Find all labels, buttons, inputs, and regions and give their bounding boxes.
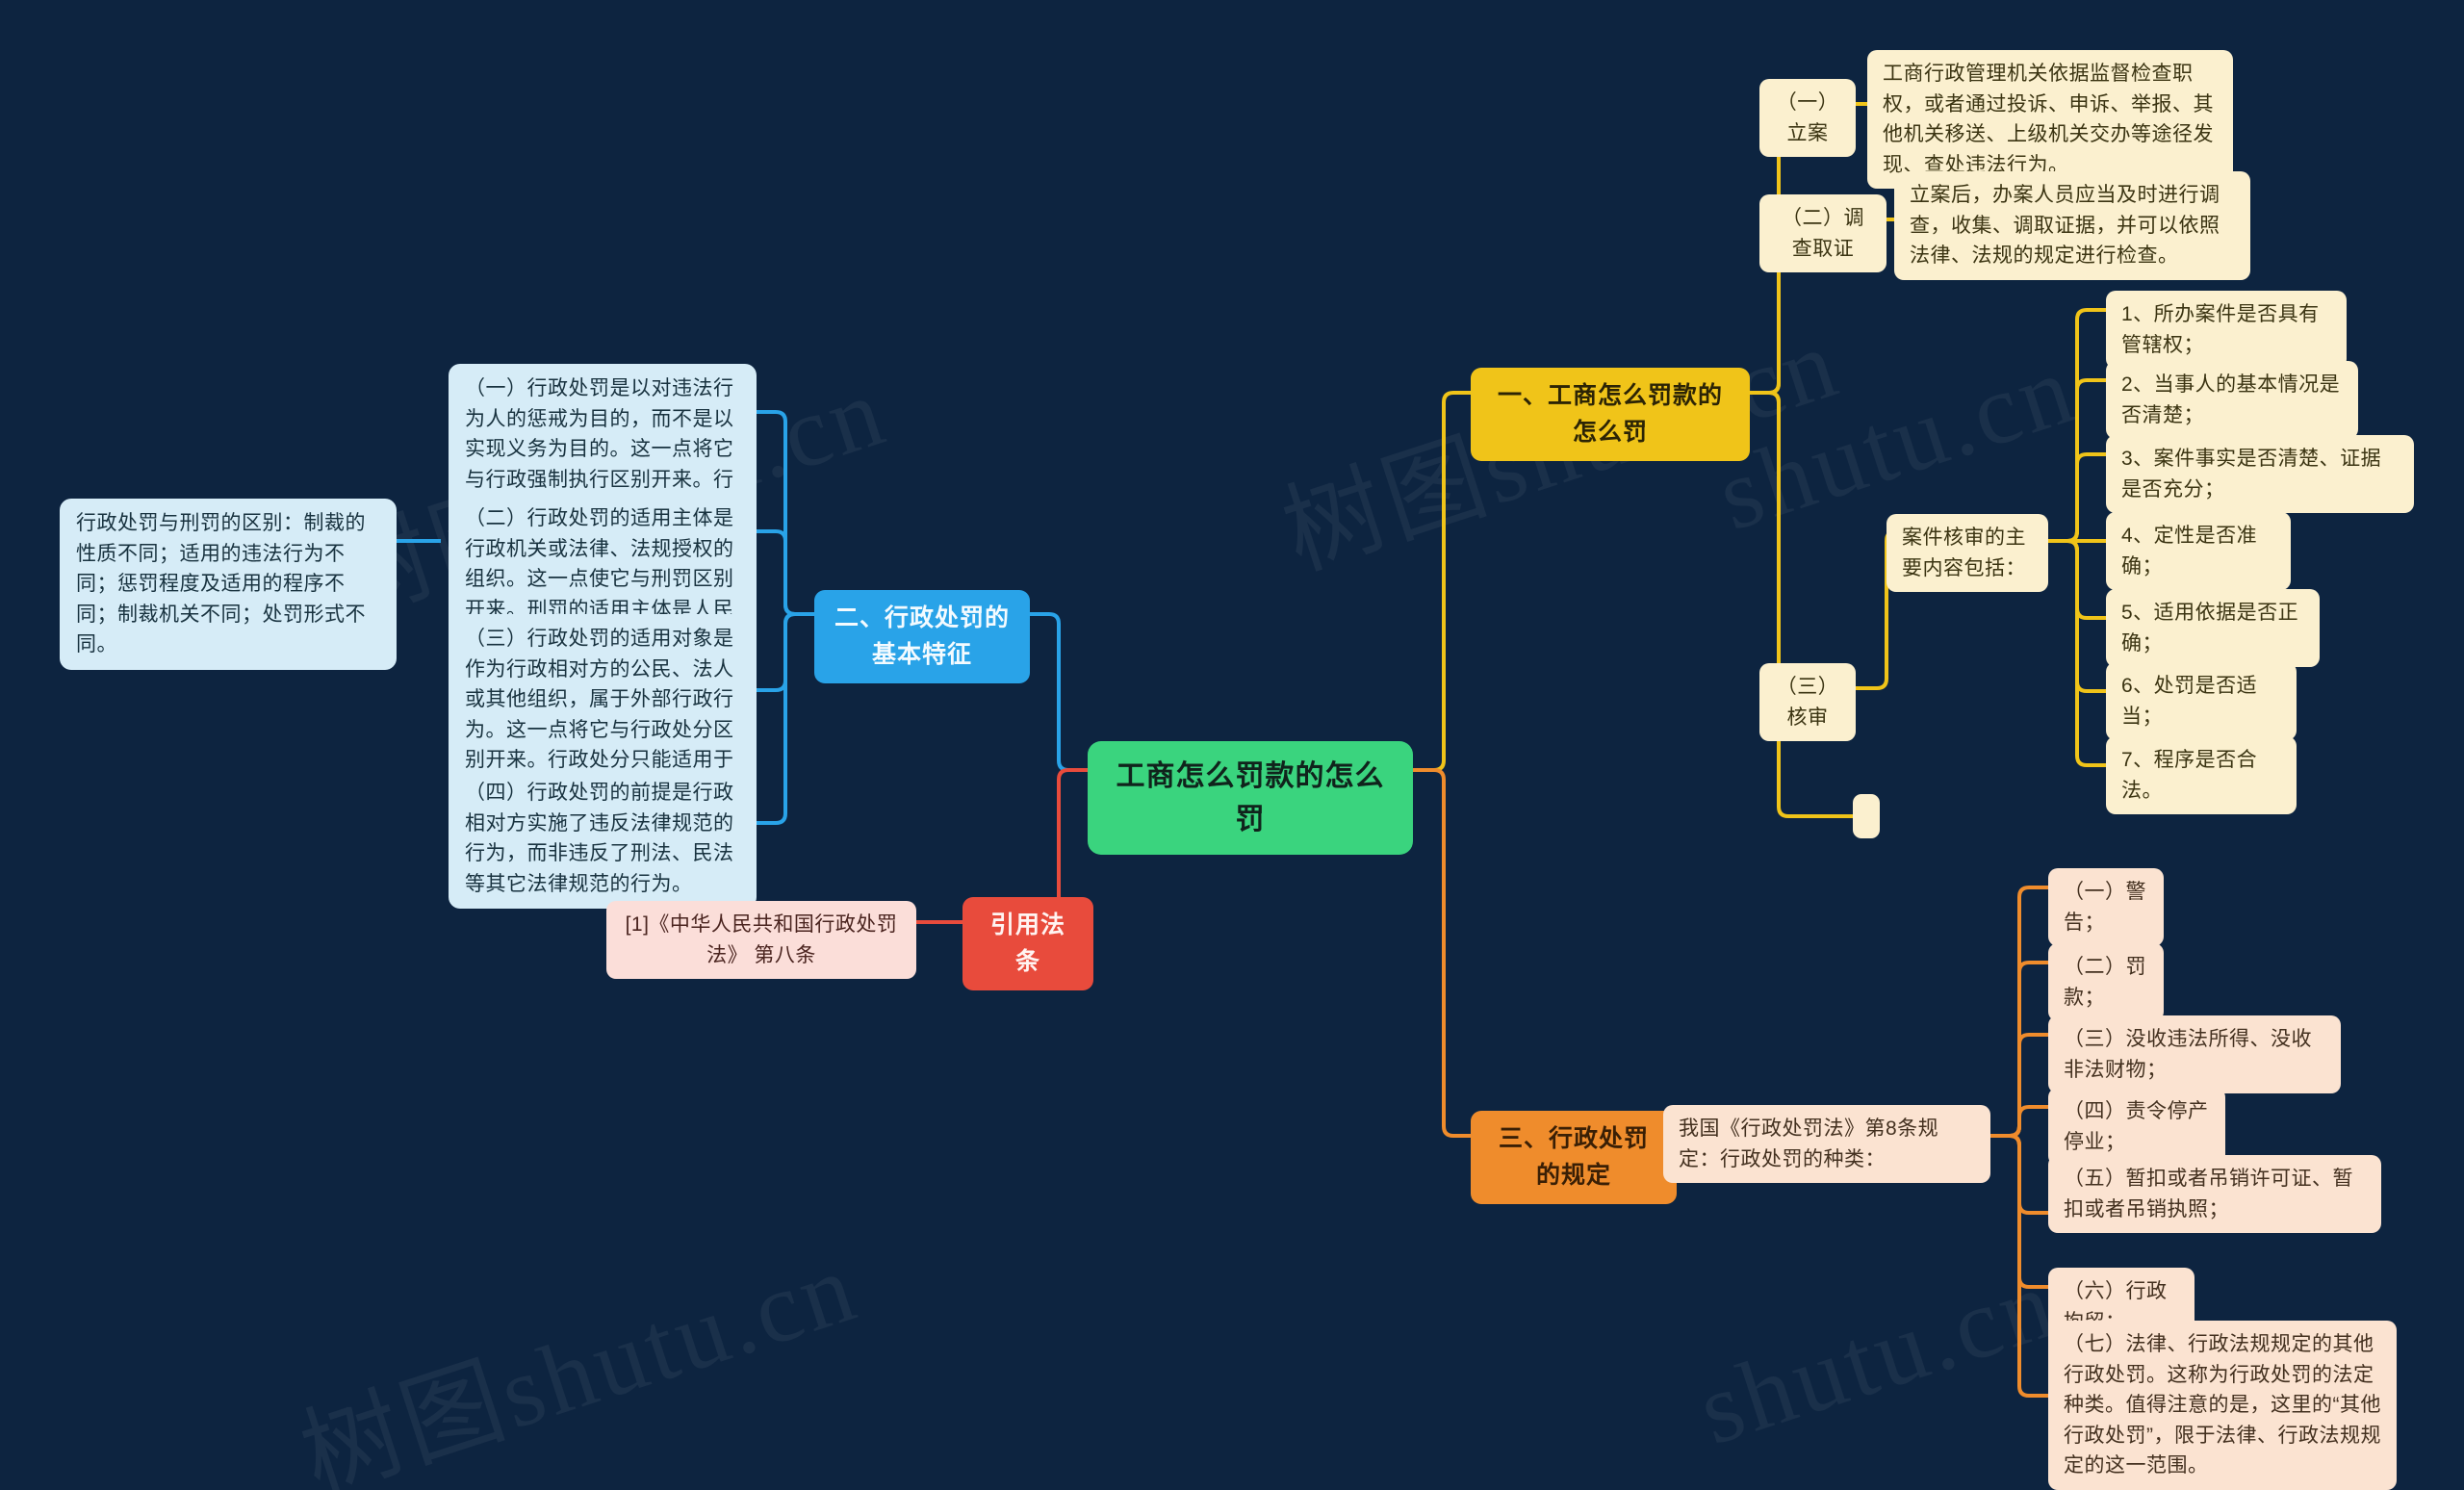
yellow-child-3-detail[interactable]: 案件核审的主要内容包括： <box>1886 514 2048 592</box>
root-node[interactable]: 工商怎么罚款的怎么罚 <box>1088 741 1413 855</box>
review-item-2[interactable]: 2、当事人的基本情况是否清楚； <box>2106 361 2358 439</box>
mindmap-canvas: 树图shutu.cn 树图shutu.cn shutu.cn 树图shutu.c… <box>0 0 2464 1490</box>
penalty-item-7[interactable]: （七）法律、行政法规规定的其他行政处罚。这称为行政处罚的法定种类。值得注意的是，… <box>2048 1321 2397 1490</box>
review-item-7[interactable]: 7、程序是否合法。 <box>2106 736 2297 814</box>
yellow-child-2-label[interactable]: （二）调查取证 <box>1759 194 1886 272</box>
branch-node-yellow[interactable]: 一、工商怎么罚款的怎么罚 <box>1471 368 1750 461</box>
review-item-5[interactable]: 5、适用依据是否正确； <box>2106 589 2320 667</box>
branch-node-blue[interactable]: 二、行政处罚的基本特征 <box>814 590 1030 683</box>
comparison-note[interactable]: 行政处罚与刑罚的区别：制裁的性质不同；适用的违法行为不同；惩罚程度及适用的程序不… <box>60 499 397 670</box>
penalty-item-1[interactable]: （一）警告； <box>2048 868 2164 946</box>
review-item-3[interactable]: 3、案件事实是否清楚、证据是否充分； <box>2106 435 2414 513</box>
penalty-item-5[interactable]: （五）暂扣或者吊销许可证、暂扣或者吊销执照； <box>2048 1155 2381 1233</box>
branch-node-orange[interactable]: 三、行政处罚的规定 <box>1471 1111 1677 1204</box>
yellow-child-3-label[interactable]: （三）核审 <box>1759 663 1856 741</box>
yellow-child-2-detail[interactable]: 立案后，办案人员应当及时进行调查，收集、调取证据，并可以依照法律、法规的规定进行… <box>1894 171 2250 280</box>
red-detail[interactable]: [1]《中华人民共和国行政处罚法》 第八条 <box>606 901 916 979</box>
penalty-item-3[interactable]: （三）没收违法所得、没收非法财物； <box>2048 1015 2341 1093</box>
feature-item-4[interactable]: （四）行政处罚的前提是行政相对方实施了违反法律规范的行为，而非违反了刑法、民法等… <box>449 768 757 909</box>
review-item-1[interactable]: 1、所办案件是否具有管辖权； <box>2106 291 2347 369</box>
review-item-6[interactable]: 6、处罚是否适当； <box>2106 662 2297 740</box>
watermark: 树图shutu.cn <box>280 1204 872 1490</box>
orange-detail[interactable]: 我国《行政处罚法》第8条规定：行政处罚的种类： <box>1663 1105 1990 1183</box>
branch-node-red[interactable]: 引用法条 <box>962 897 1093 990</box>
yellow-child-1-label[interactable]: （一）立案 <box>1759 79 1856 157</box>
review-item-4[interactable]: 4、定性是否准确； <box>2106 512 2291 590</box>
yellow-child-4-empty[interactable] <box>1853 794 1880 838</box>
penalty-item-4[interactable]: （四）责令停产停业； <box>2048 1088 2225 1166</box>
watermark: shutu.cn <box>1685 1246 2070 1468</box>
penalty-item-2[interactable]: （二）罚款； <box>2048 943 2164 1021</box>
yellow-child-1-detail[interactable]: 工商行政管理机关依据监督检查职权，或者通过投诉、申诉、举报、其他机关移送、上级机… <box>1867 50 2233 189</box>
